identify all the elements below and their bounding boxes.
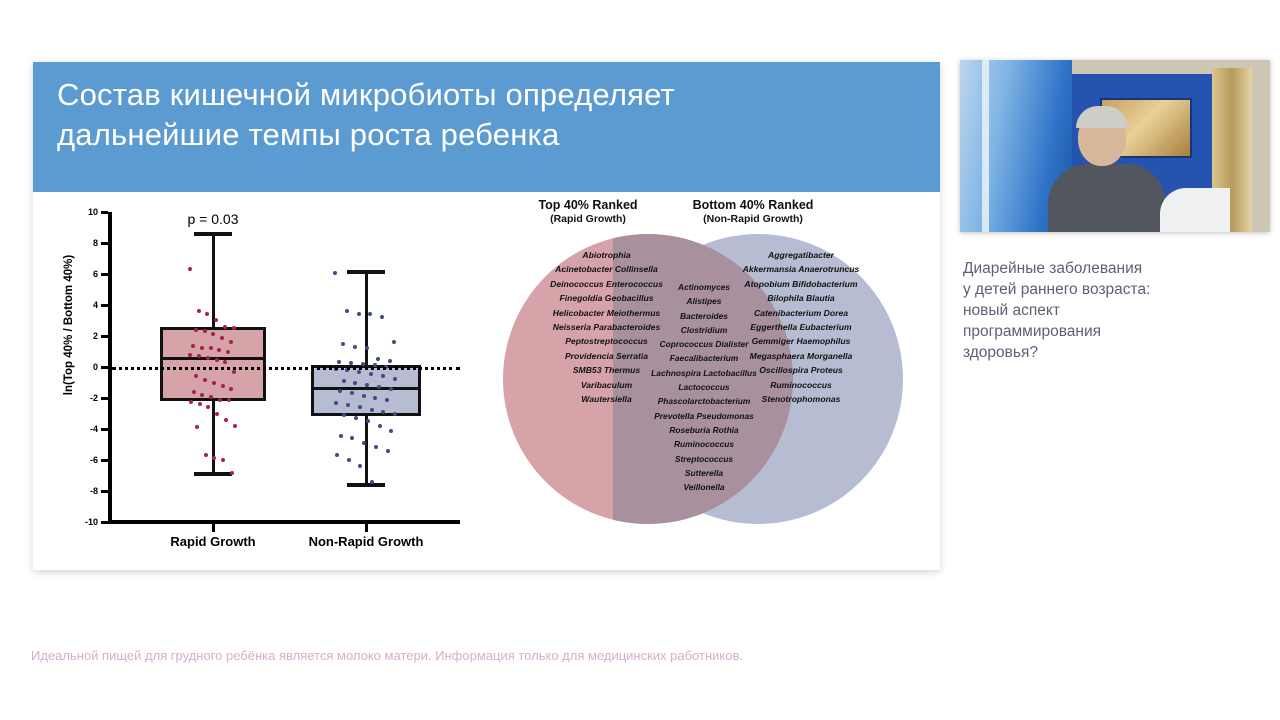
tick-mark bbox=[101, 397, 108, 400]
boxplot-data-point bbox=[362, 394, 366, 398]
boxplot-data-point bbox=[195, 425, 199, 429]
boxplot-data-point bbox=[339, 434, 343, 438]
boxplot-y-tick-label: 6 bbox=[93, 269, 98, 279]
boxplot-data-point bbox=[347, 458, 351, 462]
boxplot-data-point bbox=[368, 312, 372, 316]
boxplot-data-point bbox=[392, 340, 396, 344]
tick-mark bbox=[101, 211, 108, 214]
boxplot-data-point bbox=[232, 326, 236, 330]
venn-right-header: Bottom 40% Ranked (Non-Rapid Growth) bbox=[653, 198, 853, 226]
boxplot-y-axis-label: ln(Top 40% / Bottom 40%) bbox=[63, 220, 75, 430]
boxplot-data-point bbox=[370, 408, 374, 412]
boxplot-data-point bbox=[341, 342, 345, 346]
boxplot-data-point bbox=[212, 456, 216, 460]
boxplot-data-point bbox=[230, 471, 234, 475]
boxplot-x-axis-label: Rapid Growth bbox=[170, 534, 255, 549]
boxplot-y-tick-label: 10 bbox=[88, 207, 98, 217]
boxplot-y-tick-label: -6 bbox=[90, 455, 98, 465]
boxplot-data-point bbox=[212, 381, 216, 385]
boxplot-median-line bbox=[311, 387, 421, 390]
boxplot-box bbox=[311, 365, 421, 415]
boxplot-data-point bbox=[357, 370, 361, 374]
boxplot-data-point bbox=[224, 418, 228, 422]
boxplot-data-point bbox=[380, 315, 384, 319]
boxplot-data-point bbox=[218, 398, 222, 402]
boxplot-data-point bbox=[338, 389, 342, 393]
boxplot-data-point bbox=[192, 390, 196, 394]
boxplot-data-point bbox=[227, 398, 231, 402]
boxplot-data-point bbox=[393, 377, 397, 381]
venn-right-only-list: Aggregatibacter Akkermansia Anaerotruncu… bbox=[695, 248, 907, 406]
boxplot-data-point bbox=[389, 429, 393, 433]
boxplot-y-tick-label: -8 bbox=[90, 486, 98, 496]
video-thumbnail[interactable] bbox=[960, 60, 1270, 232]
boxplot-whisker-cap bbox=[347, 270, 385, 274]
boxplot-pvalue-annotation: p = 0.03 bbox=[188, 211, 239, 227]
tick-mark bbox=[101, 366, 108, 369]
boxplot-data-point bbox=[342, 413, 346, 417]
boxplot-data-point bbox=[205, 312, 209, 316]
boxplot-data-point bbox=[369, 372, 373, 376]
boxplot-y-tick-label: 0 bbox=[93, 362, 98, 372]
boxplot-data-point bbox=[215, 358, 219, 362]
boxplot-data-point bbox=[221, 384, 225, 388]
boxplot-data-point bbox=[197, 309, 201, 313]
footer-disclaimer: Идеальной пищей для грудного ребёнка явл… bbox=[31, 648, 1131, 663]
boxplot-zero-reference-line bbox=[112, 367, 460, 370]
boxplot-data-point bbox=[353, 345, 357, 349]
boxplot-data-point bbox=[345, 309, 349, 313]
boxplot-data-point bbox=[357, 312, 361, 316]
boxplot-data-point bbox=[189, 400, 193, 404]
slide-stage: Состав кишечной микробиоты определяет да… bbox=[0, 0, 1280, 720]
tick-mark bbox=[101, 335, 108, 338]
venn-diagram: Top 40% Ranked (Rapid Growth) Bottom 40%… bbox=[463, 192, 940, 570]
boxplot-whisker-cap bbox=[194, 232, 232, 236]
page-title: Состав кишечной микробиоты определяет да… bbox=[57, 75, 907, 155]
boxplot-data-point bbox=[206, 405, 210, 409]
boxplot-median-line bbox=[160, 357, 266, 360]
boxplot-data-point bbox=[337, 360, 341, 364]
tick-mark bbox=[101, 273, 108, 276]
boxplot-data-point bbox=[378, 424, 382, 428]
presentation-question-text: Диарейные заболевания у детей раннего во… bbox=[963, 258, 1263, 363]
boxplot-box bbox=[160, 327, 266, 401]
boxplot-x-tick bbox=[365, 524, 368, 532]
boxplot-x-axis bbox=[108, 520, 460, 524]
boxplot-data-point bbox=[223, 325, 227, 329]
boxplot-data-point bbox=[388, 359, 392, 363]
tick-mark bbox=[101, 459, 108, 462]
boxplot-data-point bbox=[206, 356, 210, 360]
boxplot-data-point bbox=[335, 453, 339, 457]
boxplot-data-point bbox=[214, 318, 218, 322]
boxplot-x-axis-label: Non-Rapid Growth bbox=[309, 534, 424, 549]
boxplot-data-point bbox=[386, 449, 390, 453]
boxplot-data-point bbox=[346, 403, 350, 407]
boxplot-chart: ln(Top 40% / Bottom 40%) 1086420-2-4-6-8… bbox=[36, 204, 466, 554]
boxplot-y-tick-label: -10 bbox=[85, 517, 98, 527]
video-foreground-object bbox=[1160, 188, 1230, 232]
tick-mark bbox=[101, 304, 108, 307]
boxplot-data-point bbox=[188, 267, 192, 271]
boxplot-y-tick-label: 4 bbox=[93, 300, 98, 310]
boxplot-y-tick-label: 8 bbox=[93, 238, 98, 248]
boxplot-x-tick bbox=[212, 524, 215, 532]
boxplot-data-point bbox=[334, 401, 338, 405]
video-window-frame bbox=[982, 60, 989, 232]
boxplot-data-point bbox=[198, 402, 202, 406]
boxplot-y-tick-label: -2 bbox=[90, 393, 98, 403]
boxplot-data-point bbox=[333, 271, 337, 275]
slide-header-bar: Состав кишечной микробиоты определяет да… bbox=[33, 62, 940, 192]
boxplot-data-point bbox=[221, 458, 225, 462]
tick-mark bbox=[101, 428, 108, 431]
boxplot-data-point bbox=[358, 464, 362, 468]
boxplot-data-point bbox=[233, 424, 237, 428]
tick-mark bbox=[101, 242, 108, 245]
boxplot-data-point bbox=[393, 412, 397, 416]
boxplot-data-point bbox=[354, 416, 358, 420]
video-person-body bbox=[1048, 164, 1166, 232]
tick-mark bbox=[101, 521, 108, 524]
boxplot-data-point bbox=[350, 436, 354, 440]
boxplot-data-point bbox=[204, 453, 208, 457]
boxplot-data-point bbox=[361, 362, 365, 366]
boxplot-data-point bbox=[365, 346, 369, 350]
slide-panel: Состав кишечной микробиоты определяет да… bbox=[33, 62, 940, 570]
boxplot-data-point bbox=[215, 412, 219, 416]
boxplot-y-tick-label: 2 bbox=[93, 331, 98, 341]
boxplot-whisker-cap bbox=[194, 472, 232, 476]
tick-mark bbox=[101, 490, 108, 493]
boxplot-y-tick-label: -4 bbox=[90, 424, 98, 434]
figure-area: ln(Top 40% / Bottom 40%) 1086420-2-4-6-8… bbox=[33, 192, 940, 570]
boxplot-data-point bbox=[220, 336, 224, 340]
boxplot-data-point bbox=[342, 379, 346, 383]
boxplot-data-point bbox=[389, 387, 393, 391]
boxplot-data-point bbox=[376, 357, 380, 361]
boxplot-data-point bbox=[200, 346, 204, 350]
boxplot-data-point bbox=[366, 419, 370, 423]
boxplot-whisker-cap bbox=[347, 483, 385, 487]
boxplot-data-point bbox=[374, 445, 378, 449]
boxplot-data-point bbox=[194, 328, 198, 332]
